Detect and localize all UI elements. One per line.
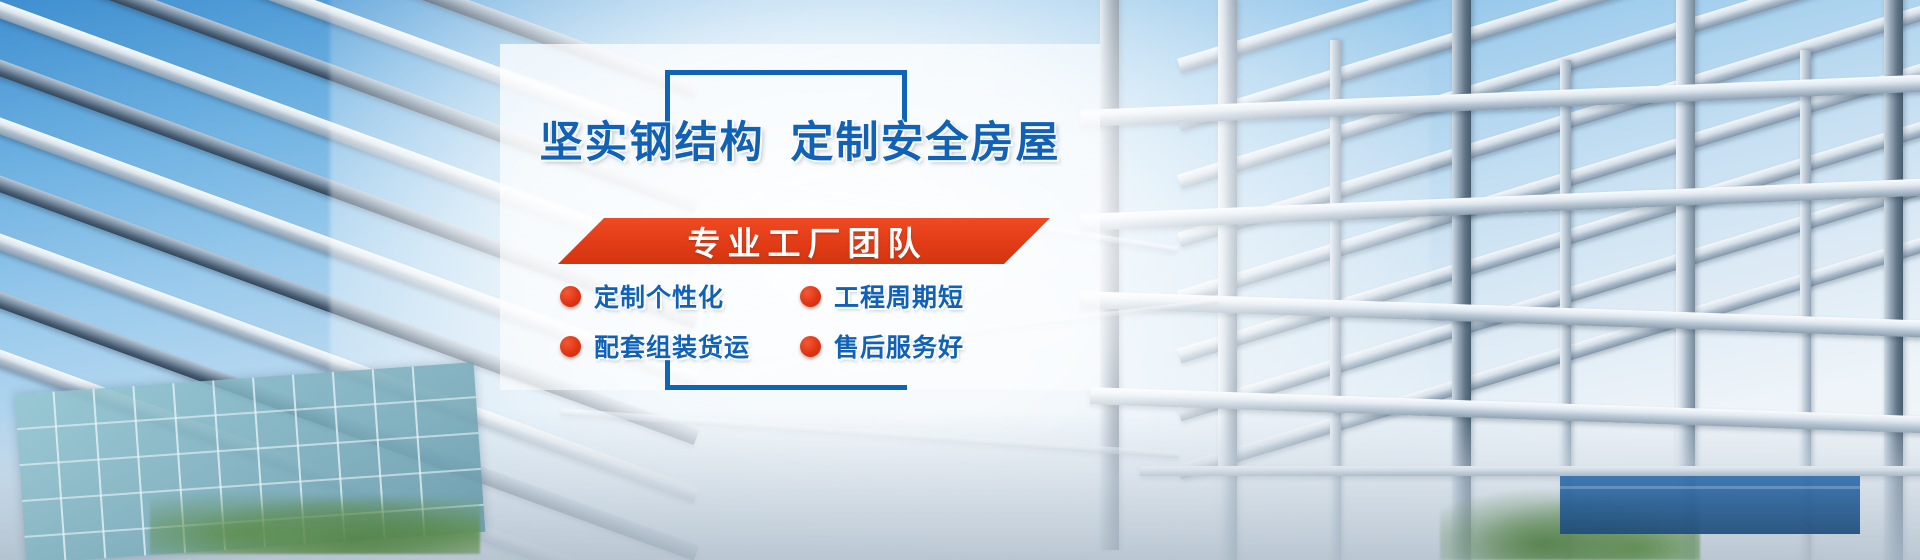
feature-item: 售后服务好 — [800, 328, 1000, 364]
red-dot-icon — [560, 286, 581, 307]
headline-part-1: 坚实钢结构 — [540, 118, 765, 168]
feature-item: 定制个性化 — [560, 278, 778, 314]
ribbon-banner: 专业工厂团队 — [558, 218, 1050, 264]
red-dot-icon — [800, 336, 821, 357]
feature-label: 工程周期短 — [834, 278, 964, 314]
feature-label: 配套组装货运 — [594, 328, 750, 364]
blue-building — [1560, 476, 1860, 534]
feature-label: 售后服务好 — [834, 328, 964, 364]
headline: 坚实钢结构定制安全房屋 — [500, 118, 1100, 168]
headline-part-2: 定制安全房屋 — [791, 118, 1061, 168]
feature-item: 工程周期短 — [800, 278, 1000, 314]
feature-item: 配套组装货运 — [560, 328, 778, 364]
hero-banner: 坚实钢结构定制安全房屋 专业工厂团队 定制个性化 工程周期短 配套组装货运 售后… — [0, 0, 1920, 560]
ribbon-label: 专业工厂团队 — [558, 218, 1050, 264]
foliage-left — [150, 484, 480, 554]
red-dot-icon — [800, 286, 821, 307]
red-dot-icon — [560, 336, 581, 357]
feature-label: 定制个性化 — [594, 278, 724, 314]
feature-list: 定制个性化 工程周期短 配套组装货运 售后服务好 — [560, 278, 1060, 364]
